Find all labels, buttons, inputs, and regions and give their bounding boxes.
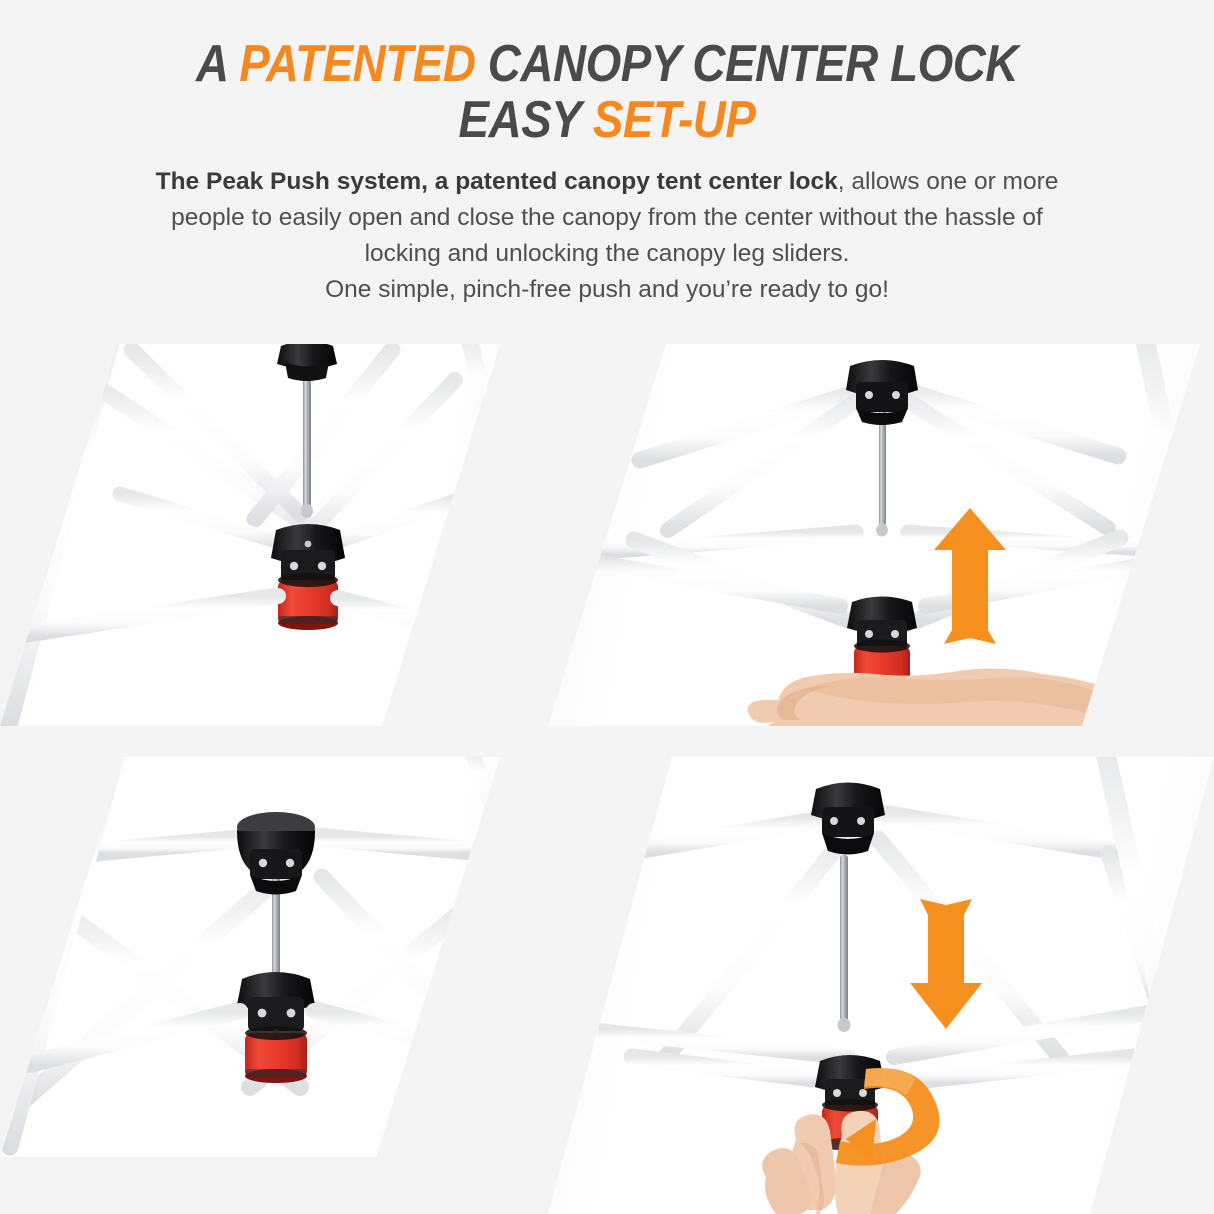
canopy-release-down-illustration <box>548 757 1214 1214</box>
page-title: A PATENTED CANOPY CENTER LOCK EASY SET-U… <box>73 36 1141 148</box>
description-line-1-rest: , allows one or more <box>838 168 1059 195</box>
headline-highlight-setup: SET-UP <box>593 91 756 149</box>
center-lock-hub <box>237 972 315 1083</box>
headline-line-1: A PATENTED CANOPY CENTER LOCK <box>73 36 1141 92</box>
headline-line-2: EASY SET-UP <box>73 92 1141 148</box>
center-lock-hub <box>271 524 345 630</box>
headline-text-a: A <box>196 35 239 93</box>
panel-push-up <box>548 344 1214 726</box>
center-pin-rod <box>879 410 886 526</box>
description-bold-lead: The Peak Push system, a patented canopy … <box>156 168 838 195</box>
photo-panel-grid <box>0 330 1214 1214</box>
infographic-page: A PATENTED CANOPY CENTER LOCK EASY SET-U… <box>0 0 1214 1214</box>
headline-text-c: EASY <box>459 91 593 149</box>
center-pin-rod <box>303 360 311 508</box>
description-line-2: people to easily open and close the cano… <box>72 200 1142 236</box>
description-line-1: The Peak Push system, a patented canopy … <box>72 164 1142 200</box>
hand-open-palm <box>748 668 1206 726</box>
description-line-4: One simple, pinch-free push and you’re r… <box>72 272 1142 308</box>
canopy-locked-open-illustration <box>0 757 500 1157</box>
panel-locked-open <box>0 757 500 1157</box>
center-pin-rod <box>840 855 848 1021</box>
panel-release-down <box>548 757 1214 1214</box>
panel-collapsed <box>0 344 500 726</box>
canopy-push-up-illustration <box>548 344 1214 726</box>
description-line-3: locking and unlocking the canopy leg sli… <box>72 236 1142 272</box>
description-paragraph: The Peak Push system, a patented canopy … <box>72 164 1142 308</box>
headline-highlight-patented: PATENTED <box>239 35 475 93</box>
canopy-frame-collapsed-illustration <box>0 344 500 726</box>
headline-text-b: CANOPY CENTER LOCK <box>475 35 1018 93</box>
